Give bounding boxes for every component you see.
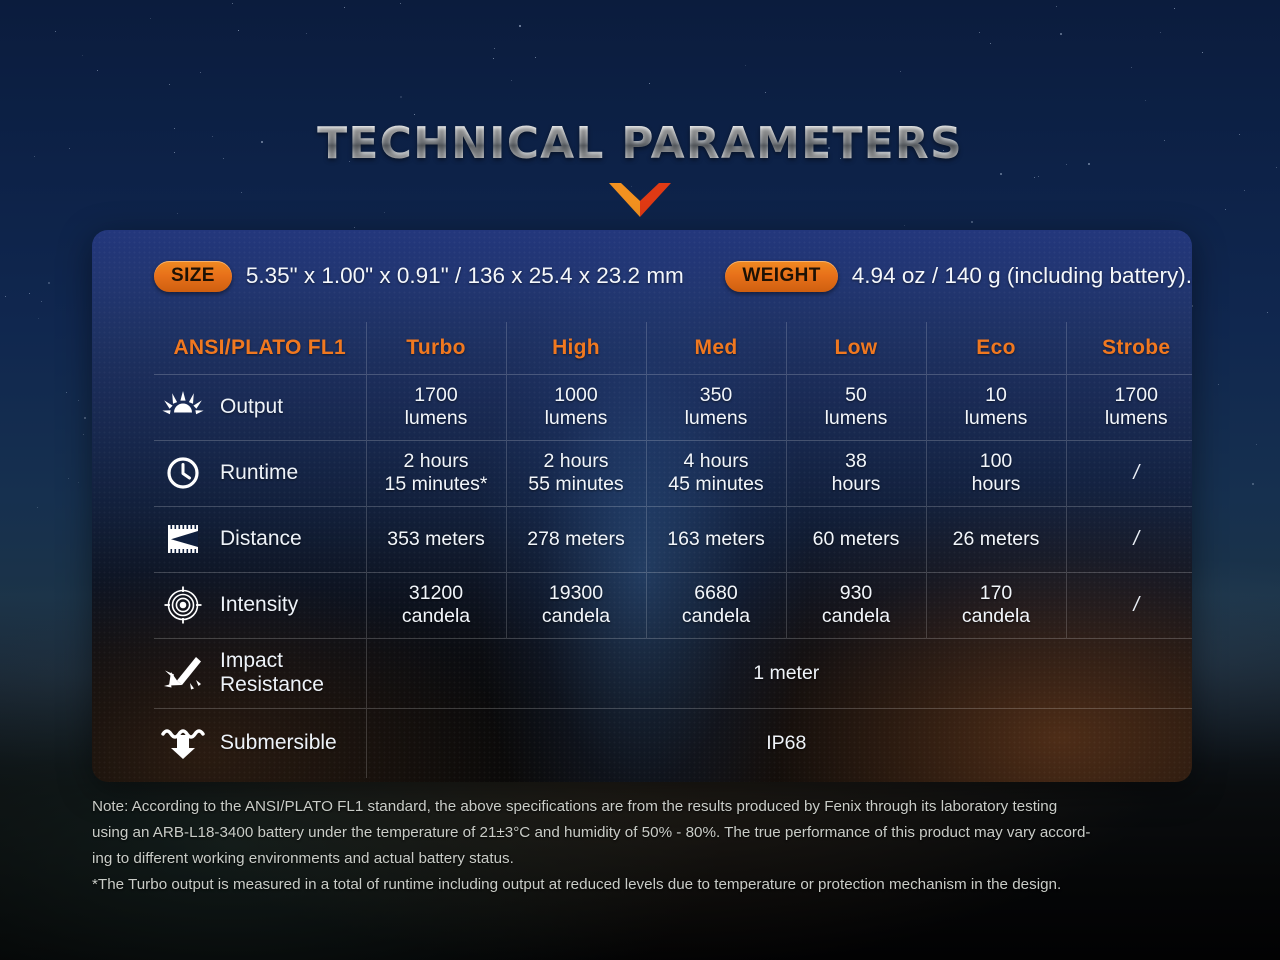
- cell-line1: 50: [845, 384, 867, 406]
- cell-output-high: 1000lumens: [506, 374, 646, 440]
- cell-line1: 100: [980, 450, 1013, 472]
- cell-line1: 353 meters: [367, 528, 506, 551]
- cell-line1: /: [1067, 528, 1193, 551]
- cell-line2: lumens: [647, 407, 786, 430]
- table-row: ImpactResistance 1 meter: [154, 638, 1192, 708]
- row-label-text: Output: [220, 395, 283, 419]
- cell-line2: 55 minutes: [507, 473, 646, 496]
- span-value: 1 meter: [367, 662, 1193, 685]
- cell-line1: 26 meters: [927, 528, 1066, 551]
- row-label-text: Submersible: [220, 731, 337, 755]
- cell-distance-med: 163 meters: [646, 506, 786, 572]
- cell-line2: lumens: [927, 407, 1066, 430]
- cell-runtime-low: 38hours: [786, 440, 926, 506]
- cell-line2: hours: [787, 473, 926, 496]
- cell-intensity-low: 930candela: [786, 572, 926, 638]
- row-label-distance: Distance: [154, 506, 366, 572]
- footnote-line-4: *The Turbo output is measured in a total…: [92, 872, 1208, 898]
- impact-drop-icon: [160, 655, 206, 691]
- row-label-line1: Impact: [220, 649, 283, 672]
- cell-distance-strobe: /: [1066, 506, 1192, 572]
- cell-intensity-strobe: /: [1066, 572, 1192, 638]
- footnote: Note: According to the ANSI/PLATO FL1 st…: [92, 794, 1208, 898]
- row-label-intensity: Intensity: [154, 572, 366, 638]
- cell-output-strobe: 1700lumens: [1066, 374, 1192, 440]
- target-intensity-icon: [160, 586, 206, 624]
- size-weight-strip: SIZE 5.35" x 1.00" x 0.91" / 136 x 25.4 …: [92, 230, 1192, 322]
- cell-line1: 4 hours: [683, 450, 748, 472]
- cell-line1: 19300: [549, 582, 603, 604]
- row-label-text: Runtime: [220, 461, 298, 485]
- footnote-line-2: using an ARB-L18-3400 battery under the …: [92, 820, 1208, 846]
- column-header-low: Low: [786, 322, 926, 374]
- column-header-high: High: [506, 322, 646, 374]
- cell-output-turbo: 1700lumens: [366, 374, 506, 440]
- cell-line2: candela: [927, 605, 1066, 628]
- row-label-output: Output: [154, 374, 366, 440]
- cell-line1: 6680: [694, 582, 737, 604]
- weight-value: 4.94 oz / 140 g (including battery).: [852, 263, 1192, 289]
- cell-line2: lumens: [1067, 407, 1193, 430]
- cell-line1: /: [1067, 594, 1193, 617]
- row-label-text: Intensity: [220, 593, 298, 617]
- clock-icon: [160, 456, 206, 490]
- chevron-down-icon: [609, 181, 671, 217]
- row-label-impact-resistance: ImpactResistance: [154, 638, 366, 708]
- span-value: IP68: [367, 732, 1193, 755]
- cell-line1: /: [1067, 462, 1193, 485]
- cell-line1: 10: [985, 384, 1007, 406]
- cell-intensity-high: 19300candela: [506, 572, 646, 638]
- cell-distance-low: 60 meters: [786, 506, 926, 572]
- size-value: 5.35" x 1.00" x 0.91" / 136 x 25.4 x 23.…: [246, 263, 684, 289]
- cell-impact-resistance-value: 1 meter: [366, 638, 1192, 708]
- cell-line2: 45 minutes: [647, 473, 786, 496]
- weight-badge: WEIGHT: [725, 261, 837, 292]
- table-header-row: ANSI/PLATO FL1 Turbo High Med Low Eco St…: [154, 322, 1192, 374]
- cell-line2: hours: [927, 473, 1066, 496]
- cell-line2: candela: [647, 605, 786, 628]
- row-label-text: ImpactResistance: [220, 649, 324, 696]
- cell-line2: candela: [507, 605, 646, 628]
- page-title: TECHNICAL PARAMETERS: [317, 118, 963, 169]
- cell-line1: 2 hours: [403, 450, 468, 472]
- column-header-eco: Eco: [926, 322, 1066, 374]
- footnote-line-1: Note: According to the ANSI/PLATO FL1 st…: [92, 794, 1208, 820]
- row-label-submersible: Submersible: [154, 708, 366, 778]
- cell-line1: 60 meters: [787, 528, 926, 551]
- beam-distance-icon: [160, 522, 206, 556]
- table-row: Intensity 31200candela 19300candela 6680…: [154, 572, 1192, 638]
- cell-distance-eco: 26 meters: [926, 506, 1066, 572]
- cell-output-eco: 10lumens: [926, 374, 1066, 440]
- table-row: Runtime 2 hours15 minutes* 2 hours55 min…: [154, 440, 1192, 506]
- cell-runtime-strobe: /: [1066, 440, 1192, 506]
- column-header-med: Med: [646, 322, 786, 374]
- specs-panel: SIZE 5.35" x 1.00" x 0.91" / 136 x 25.4 …: [92, 230, 1192, 782]
- cell-distance-turbo: 353 meters: [366, 506, 506, 572]
- specs-table: ANSI/PLATO FL1 Turbo High Med Low Eco St…: [154, 322, 1192, 778]
- cell-line1: 2 hours: [543, 450, 608, 472]
- cell-line1: 930: [840, 582, 873, 604]
- cell-line1: 170: [980, 582, 1013, 604]
- page-header: TECHNICAL PARAMETERS: [0, 118, 1280, 217]
- cell-line1: 31200: [409, 582, 463, 604]
- cell-line1: 38: [845, 450, 867, 472]
- row-label-line2: Resistance: [220, 673, 324, 696]
- cell-line1: 350: [700, 384, 733, 406]
- cell-output-med: 350lumens: [646, 374, 786, 440]
- table-row: Submersible IP68: [154, 708, 1192, 778]
- cell-intensity-turbo: 31200candela: [366, 572, 506, 638]
- cell-intensity-eco: 170candela: [926, 572, 1066, 638]
- cell-line2: lumens: [507, 407, 646, 430]
- cell-line1: 163 meters: [647, 528, 786, 551]
- cell-line2: candela: [367, 605, 506, 628]
- cell-line1: 278 meters: [507, 528, 646, 551]
- cell-line2: lumens: [787, 407, 926, 430]
- cell-output-low: 50lumens: [786, 374, 926, 440]
- sunburst-icon: [160, 391, 206, 423]
- footnote-line-3: ing to different working environments an…: [92, 846, 1208, 872]
- cell-runtime-eco: 100hours: [926, 440, 1066, 506]
- cell-line1: 1700: [414, 384, 457, 406]
- table-row: Output 1700lumens 1000lumens 350lumens 5…: [154, 374, 1192, 440]
- cell-intensity-med: 6680candela: [646, 572, 786, 638]
- size-badge: SIZE: [154, 261, 232, 292]
- column-header-turbo: Turbo: [366, 322, 506, 374]
- cell-runtime-turbo: 2 hours15 minutes*: [366, 440, 506, 506]
- submersible-icon: [160, 726, 206, 760]
- cell-runtime-med: 4 hours45 minutes: [646, 440, 786, 506]
- cell-submersible-value: IP68: [366, 708, 1192, 778]
- column-header-strobe: Strobe: [1066, 322, 1192, 374]
- row-label-text: Distance: [220, 527, 302, 551]
- table-row: Distance 353 meters 278 meters 163 meter…: [154, 506, 1192, 572]
- cell-line1: 1700: [1115, 384, 1158, 406]
- cell-line2: lumens: [367, 407, 506, 430]
- cell-runtime-high: 2 hours55 minutes: [506, 440, 646, 506]
- cell-line2: candela: [787, 605, 926, 628]
- cell-line1: 1000: [554, 384, 597, 406]
- chevron-ornament: [0, 181, 1280, 217]
- cell-distance-high: 278 meters: [506, 506, 646, 572]
- cell-line2: 15 minutes*: [367, 473, 506, 496]
- column-header-standard: ANSI/PLATO FL1: [154, 322, 366, 374]
- row-label-runtime: Runtime: [154, 440, 366, 506]
